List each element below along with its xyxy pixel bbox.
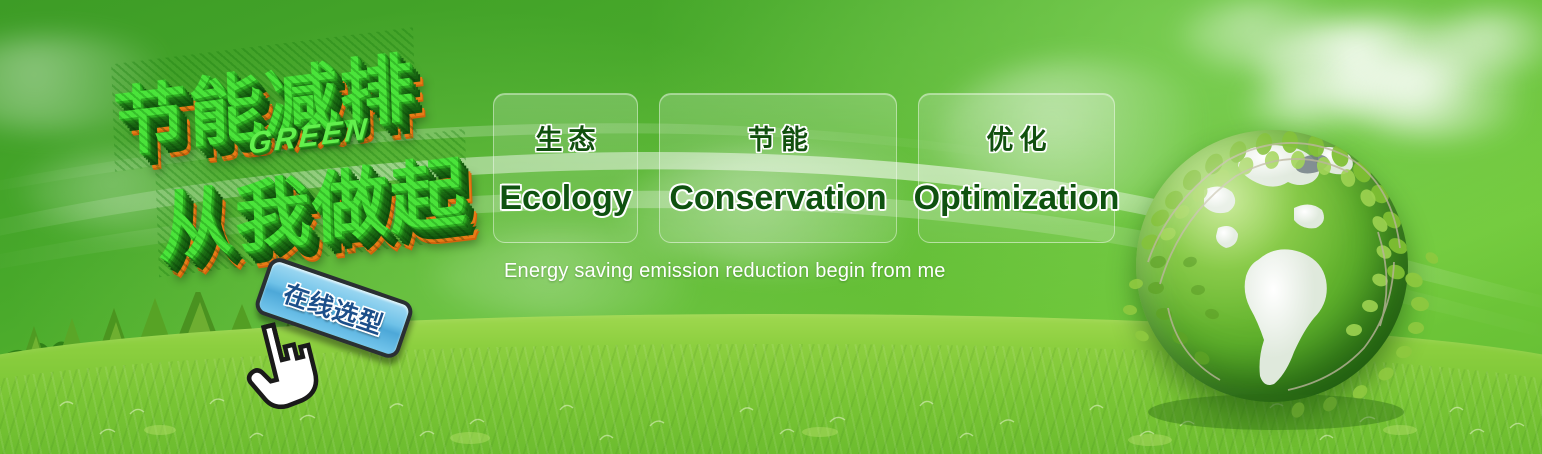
feature-card-title-cn: 优化	[981, 118, 1053, 157]
pointing-hand-cursor-icon	[243, 318, 321, 410]
feature-card-conservation[interactable]: 节能 Conservation	[659, 93, 897, 243]
feature-card-title-en: Ecology	[499, 179, 631, 218]
banner-tagline: Energy saving emission reduction begin f…	[504, 260, 946, 283]
feature-card-optimization[interactable]: 优化 Optimization	[918, 93, 1115, 243]
green-energy-banner: 节能减排 GREEN 从我做起 在线选型 生态 Ecology 节能 Conse…	[0, 0, 1542, 454]
feature-card-ecology[interactable]: 生态 Ecology	[493, 93, 638, 243]
feature-card-title-cn: 节能	[742, 118, 814, 157]
hero-title-artwork: 节能减排 GREEN 从我做起	[98, 38, 498, 270]
feature-card-title-en: Optimization	[914, 179, 1120, 218]
globe-overlay	[1108, 112, 1438, 442]
feature-card-list: 生态 Ecology 节能 Conservation 优化 Optimizati…	[493, 93, 1115, 243]
feature-card-title-cn: 生态	[530, 118, 602, 157]
cloud-icon	[1180, 0, 1360, 70]
leaf-covered-globe	[1108, 112, 1438, 442]
feature-card-title-en: Conservation	[669, 179, 886, 218]
